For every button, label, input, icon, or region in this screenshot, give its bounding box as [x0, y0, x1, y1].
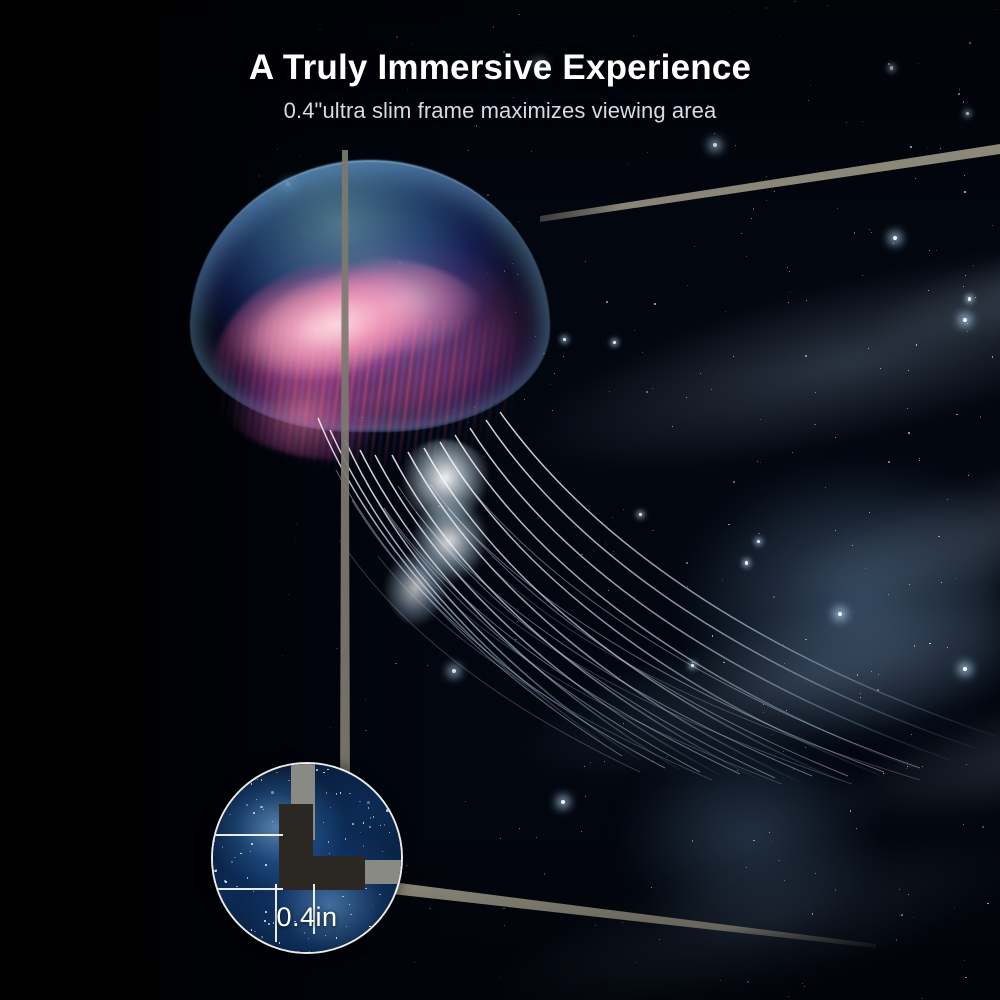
bezel-callout-lines [0, 0, 1000, 1000]
magnified-star [379, 946, 381, 948]
magnified-star [357, 769, 359, 771]
magnified-star [336, 793, 338, 795]
bezel-top-leader-line [540, 144, 1000, 222]
magnified-star [261, 936, 263, 938]
magnified-star [245, 936, 247, 938]
magnified-star [326, 792, 328, 794]
magnified-star [256, 799, 258, 801]
magnified-star [309, 951, 311, 953]
page-title: A Truly Immersive Experience [0, 48, 1000, 88]
magnified-star [247, 877, 249, 879]
magnified-star [382, 851, 384, 853]
magnified-star [359, 801, 361, 803]
magnified-star [257, 779, 259, 781]
magnified-star [355, 940, 357, 942]
magnified-star [276, 772, 278, 774]
magnified-star [363, 822, 365, 824]
magnified-star [222, 846, 224, 848]
magnified-star [373, 816, 375, 818]
magnified-star [349, 793, 351, 795]
page-subtitle: 0.4"ultra slim frame maximizes viewing a… [0, 98, 1000, 124]
magnified-star [215, 799, 217, 801]
magnified-star [213, 840, 215, 842]
magnified-star [370, 817, 372, 819]
dimension-line-left-upper [211, 834, 283, 836]
magnified-star [325, 935, 327, 937]
magnified-star [253, 891, 255, 893]
magnified-star [265, 864, 267, 866]
magnified-star [220, 773, 222, 775]
magnified-star [342, 896, 344, 898]
magnified-star [260, 806, 263, 809]
magnified-star [369, 826, 371, 828]
magnified-star [340, 792, 342, 794]
magnified-star [250, 851, 252, 853]
magnified-star [234, 857, 236, 859]
magnified-star [354, 773, 356, 775]
bezel-bottom-leader-line [392, 882, 876, 948]
magnified-star [297, 951, 300, 954]
magnified-star [329, 853, 331, 855]
magnified-star [272, 821, 274, 823]
magnified-star [379, 894, 381, 896]
magnified-star [236, 886, 238, 888]
magnified-star [368, 807, 370, 809]
magnified-star [214, 870, 217, 873]
magnified-star [367, 801, 370, 804]
magnified-star [360, 832, 362, 834]
magnified-star [251, 783, 253, 785]
magnified-star [384, 824, 386, 826]
bezel-left-edge-line [340, 150, 350, 800]
magnified-star [308, 938, 310, 940]
magnifier-callout: 0.4in [211, 762, 403, 954]
magnified-star [389, 832, 391, 834]
magnified-star [288, 780, 290, 782]
magnified-star [246, 804, 248, 806]
magnified-star [316, 769, 318, 771]
bezel-corner-horizontal [279, 856, 365, 890]
product-feature-image: 0.4in A Truly Immersive Experience 0.4"u… [0, 0, 1000, 1000]
magnified-star [328, 841, 330, 843]
magnified-star [352, 823, 354, 825]
magnified-star [264, 944, 266, 946]
magnified-star [380, 942, 382, 944]
bezel-width-label: 0.4in [213, 902, 401, 933]
magnified-star [341, 768, 343, 770]
magnified-star [386, 809, 389, 812]
magnified-star [375, 783, 377, 785]
magnified-star [271, 791, 274, 794]
magnified-star [345, 838, 347, 840]
magnified-star [327, 769, 329, 771]
magnified-star [229, 814, 231, 816]
magnified-star [323, 772, 325, 774]
magnified-star [365, 888, 367, 890]
magnified-star [231, 861, 233, 863]
magnified-star [323, 822, 325, 824]
magnified-star [330, 807, 332, 809]
magnified-star [371, 949, 373, 951]
dimension-line-left-lower [211, 888, 283, 890]
magnified-star [224, 880, 226, 882]
magnified-star [251, 843, 253, 845]
magnified-star [363, 845, 365, 847]
magnified-star [263, 809, 265, 811]
magnified-star [253, 812, 255, 814]
magnified-star [279, 942, 281, 944]
magnified-star [261, 779, 263, 781]
magnified-star [380, 825, 382, 827]
magnified-star [336, 937, 338, 939]
magnified-star [240, 853, 242, 855]
